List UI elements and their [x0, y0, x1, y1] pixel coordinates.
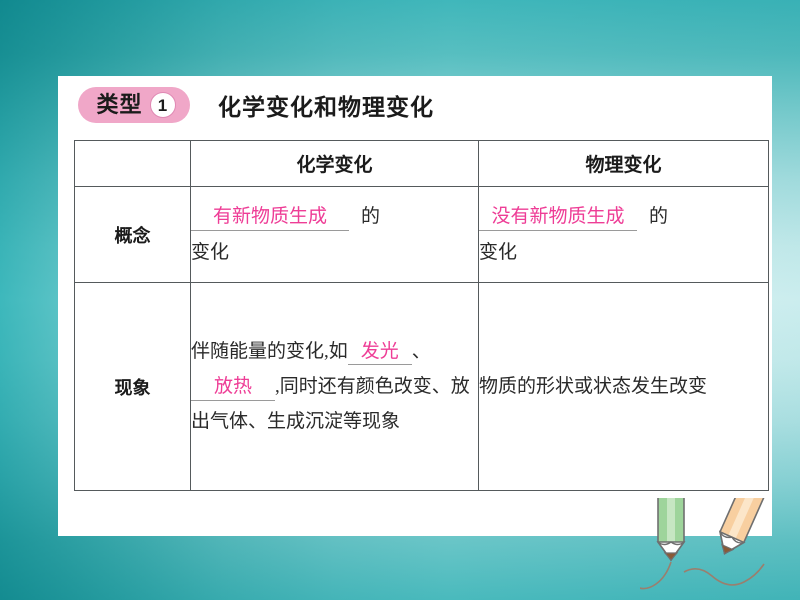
- type-badge-label: 类型: [96, 94, 142, 116]
- row-label-concept: 概念: [75, 187, 191, 283]
- pencil-green-icon: [658, 498, 684, 560]
- table-row: 概念 有新物质生成的 变化 没有新物质生成的 变化: [75, 187, 769, 283]
- fill-blank-chemical-concept[interactable]: 有新物质生成: [191, 204, 349, 231]
- phenomenon-physical-text: 物质的形状或状态发生改变: [479, 376, 707, 397]
- phenomenon-chemical-separator: 、: [412, 341, 431, 362]
- concept-physical-tail: 变化: [479, 242, 517, 263]
- cell-phenomenon-physical: 物质的形状或状态发生改变: [479, 283, 769, 491]
- scribble-line-right: [684, 564, 764, 585]
- scribble-line-left: [640, 562, 671, 589]
- column-header-blank: [75, 141, 191, 187]
- comparison-table: 化学变化 物理变化 概念 有新物质生成的 变化 没有新物质生成的 变化: [74, 140, 769, 491]
- slide-background: 类型 1 化学变化和物理变化 化学变化 物理变化 概念: [0, 0, 800, 600]
- section-header: 类型 1 化学变化和物理变化: [58, 76, 772, 134]
- fill-blank-phenomenon-light[interactable]: 发光: [348, 339, 412, 366]
- phenomenon-chemical-tail: 生成沉淀等现象: [267, 411, 400, 432]
- concept-chemical-tail: 变化: [191, 242, 229, 263]
- column-header-chemical-change: 化学变化: [191, 141, 479, 187]
- pencil-orange-icon: [713, 498, 770, 559]
- table-header-row: 化学变化 物理变化: [75, 141, 769, 187]
- fill-blank-physical-concept[interactable]: 没有新物质生成: [479, 204, 637, 231]
- page-title: 化学变化和物理变化: [218, 88, 434, 122]
- row-label-phenomenon: 现象: [75, 283, 191, 491]
- concept-physical-particle: 的: [649, 206, 668, 227]
- cell-phenomenon-chemical: 伴随能量的变化,如发光、放热,同时还有颜色改变、放出气体、生成沉淀等现象: [191, 283, 479, 491]
- cell-concept-physical: 没有新物质生成的 变化: [479, 187, 769, 283]
- content-card: 类型 1 化学变化和物理变化 化学变化 物理变化 概念: [58, 76, 772, 536]
- concept-chemical-particle: 的: [361, 206, 380, 227]
- table-row: 现象 伴随能量的变化,如发光、放热,同时还有颜色改变、放出气体、生成沉淀等现象 …: [75, 283, 769, 491]
- pencils-decoration: [640, 498, 800, 600]
- cell-concept-chemical: 有新物质生成的 变化: [191, 187, 479, 283]
- fill-blank-phenomenon-heat[interactable]: 放热: [191, 374, 275, 401]
- column-header-physical-change: 物理变化: [479, 141, 769, 187]
- type-badge: 类型 1: [78, 87, 190, 123]
- phenomenon-chemical-lead: 伴随能量的变化,如: [191, 341, 348, 362]
- type-badge-number: 1: [150, 92, 176, 118]
